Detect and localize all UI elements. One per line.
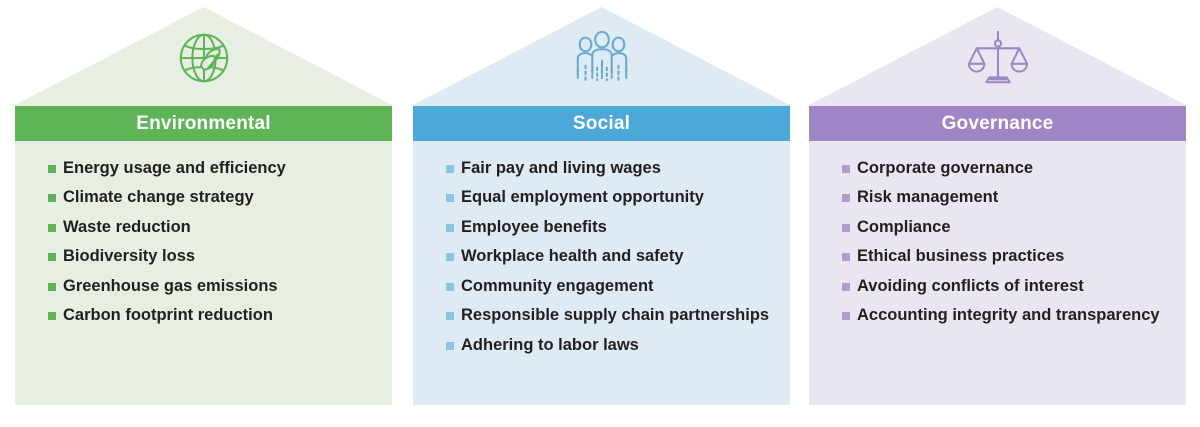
list-item-label: Energy usage and efficiency [63, 159, 286, 177]
list-item: Risk management [842, 188, 1172, 207]
list-item-label: Carbon footprint reduction [63, 306, 273, 324]
list-item-label: Responsible supply chain partnerships [461, 306, 769, 324]
bullet-square-icon [842, 312, 850, 320]
pillar-governance: Governance Corporate governance Risk man… [809, 0, 1186, 410]
list-item-label: Corporate governance [857, 159, 1033, 177]
list-item-label: Employee benefits [461, 218, 607, 236]
item-list-environmental: Energy usage and efficiency Climate chan… [15, 141, 392, 326]
list-item: Workplace health and safety [446, 247, 776, 266]
bullet-square-icon [446, 342, 454, 350]
body-environmental: Energy usage and efficiency Climate chan… [15, 141, 392, 405]
list-item-label: Adhering to labor laws [461, 336, 639, 354]
bullet-square-icon [842, 224, 850, 232]
header-bar-social: Social [413, 106, 790, 141]
bullet-square-icon [842, 283, 850, 291]
bullet-square-icon [446, 312, 454, 320]
list-item: Employee benefits [446, 218, 776, 237]
pillar-environmental: Environmental Energy usage and efficienc… [15, 0, 392, 410]
list-item-label: Workplace health and safety [461, 247, 684, 265]
list-item-label: Accounting integrity and transparency [857, 306, 1160, 324]
bullet-square-icon [842, 194, 850, 202]
list-item: Greenhouse gas emissions [48, 277, 378, 296]
list-item: Carbon footprint reduction [48, 306, 378, 325]
item-list-social: Fair pay and living wages Equal employme… [413, 141, 790, 355]
list-item-label: Greenhouse gas emissions [63, 277, 278, 295]
list-item: Waste reduction [48, 218, 378, 237]
list-item-label: Risk management [857, 188, 998, 206]
bullet-square-icon [48, 312, 56, 320]
bullet-square-icon [446, 224, 454, 232]
list-item-label: Climate change strategy [63, 188, 254, 206]
list-item-label: Avoiding conflicts of interest [857, 277, 1084, 295]
list-item-label: Community engagement [461, 277, 654, 295]
list-item: Adhering to labor laws [446, 336, 776, 355]
item-list-governance: Corporate governance Risk management Com… [809, 141, 1186, 326]
body-social: Fair pay and living wages Equal employme… [413, 141, 790, 405]
list-item: Responsible supply chain partnerships [446, 306, 776, 325]
bullet-square-icon [446, 283, 454, 291]
bullet-square-icon [48, 253, 56, 261]
people-group-icon [571, 27, 633, 89]
bullet-square-icon [446, 194, 454, 202]
bullet-square-icon [48, 224, 56, 232]
bullet-square-icon [842, 165, 850, 173]
bullet-square-icon [48, 194, 56, 202]
page-title-social: Social [573, 113, 630, 135]
list-item: Ethical business practices [842, 247, 1172, 266]
esg-pillars-figure: Environmental Energy usage and efficienc… [0, 0, 1200, 427]
page-title-governance: Governance [942, 113, 1054, 135]
page-title-environmental: Environmental [136, 113, 271, 135]
bullet-square-icon [48, 165, 56, 173]
list-item: Equal employment opportunity [446, 188, 776, 207]
list-item-label: Waste reduction [63, 218, 191, 236]
bullet-square-icon [446, 165, 454, 173]
list-item: Climate change strategy [48, 188, 378, 207]
list-item-label: Compliance [857, 218, 951, 236]
list-item-label: Ethical business practices [857, 247, 1064, 265]
list-item: Community engagement [446, 277, 776, 296]
list-item: Accounting integrity and transparency [842, 306, 1172, 325]
list-item: Corporate governance [842, 159, 1172, 178]
pillar-social: Social Fair pay and living wages Equal e… [413, 0, 790, 410]
balance-scales-icon [967, 27, 1029, 89]
list-item: Biodiversity loss [48, 247, 378, 266]
bullet-square-icon [842, 253, 850, 261]
bullet-square-icon [446, 253, 454, 261]
list-item: Fair pay and living wages [446, 159, 776, 178]
list-item-label: Equal employment opportunity [461, 188, 704, 206]
list-item-label: Fair pay and living wages [461, 159, 661, 177]
list-item: Compliance [842, 218, 1172, 237]
body-governance: Corporate governance Risk management Com… [809, 141, 1186, 405]
list-item: Avoiding conflicts of interest [842, 277, 1172, 296]
header-bar-governance: Governance [809, 106, 1186, 141]
list-item: Energy usage and efficiency [48, 159, 378, 178]
globe-leaf-icon [173, 27, 235, 89]
bullet-square-icon [48, 283, 56, 291]
list-item-label: Biodiversity loss [63, 247, 195, 265]
header-bar-environmental: Environmental [15, 106, 392, 141]
